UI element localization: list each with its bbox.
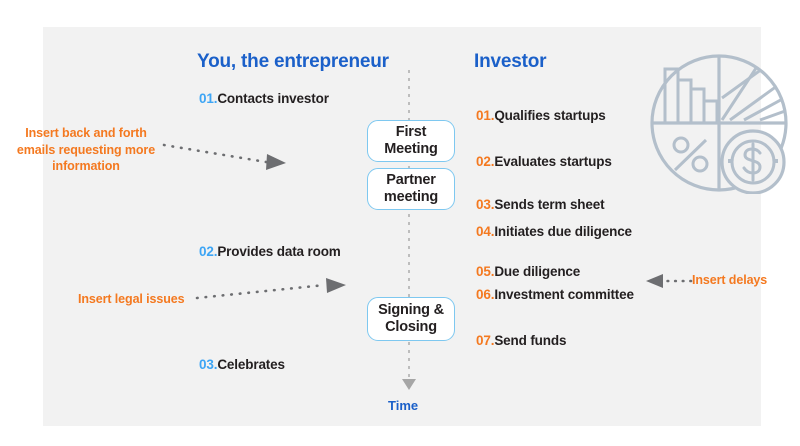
timeline-arrowhead-icon bbox=[402, 379, 416, 390]
step-number: 04. bbox=[476, 224, 494, 239]
column-heading-investor: Investor bbox=[474, 51, 546, 73]
diagram-canvas: You, the entrepreneur Investor 01.Contac… bbox=[0, 0, 800, 446]
step-number: 05. bbox=[476, 264, 494, 279]
step-label: Contacts investor bbox=[217, 91, 328, 106]
milestone-label: Partner meeting bbox=[384, 172, 438, 205]
step-investor-1: 01.Qualifies startups bbox=[476, 108, 606, 123]
step-entrepreneur-1: 01.Contacts investor bbox=[199, 91, 329, 106]
step-entrepreneur-3: 03.Celebrates bbox=[199, 357, 285, 372]
step-label: Initiates due diligence bbox=[494, 224, 632, 239]
step-investor-7: 07.Send funds bbox=[476, 333, 566, 348]
annotation-legal-text: Insert legal issues bbox=[78, 291, 188, 308]
step-label: Send funds bbox=[494, 333, 566, 348]
column-heading-entrepreneur: You, the entrepreneur bbox=[197, 51, 389, 73]
step-number: 06. bbox=[476, 287, 494, 302]
step-number: 01. bbox=[476, 108, 494, 123]
milestone-label: First Meeting bbox=[384, 124, 437, 157]
step-investor-2: 02.Evaluates startups bbox=[476, 154, 612, 169]
step-number: 02. bbox=[199, 244, 217, 259]
step-label: Sends term sheet bbox=[494, 197, 604, 212]
milestone-signing-closing[interactable]: Signing & Closing bbox=[367, 297, 455, 341]
step-label: Celebrates bbox=[217, 357, 285, 372]
annotation-delays-text: Insert delays bbox=[692, 272, 767, 289]
step-investor-4: 04.Initiates due diligence bbox=[476, 224, 632, 239]
step-number: 01. bbox=[199, 91, 217, 106]
milestone-first-meeting[interactable]: First Meeting bbox=[367, 120, 455, 162]
step-number: 03. bbox=[476, 197, 494, 212]
step-entrepreneur-2: 02.Provides data room bbox=[199, 244, 341, 259]
step-label: Qualifies startups bbox=[494, 108, 605, 123]
step-investor-5: 05.Due diligence bbox=[476, 264, 580, 279]
step-number: 03. bbox=[199, 357, 217, 372]
step-number: 02. bbox=[476, 154, 494, 169]
timeline-axis-label: Time bbox=[388, 398, 418, 413]
milestone-partner-meeting[interactable]: Partner meeting bbox=[367, 168, 455, 210]
step-investor-6: 06.Investment committee bbox=[476, 287, 634, 302]
step-label: Evaluates startups bbox=[494, 154, 611, 169]
milestone-label: Signing & Closing bbox=[378, 302, 444, 335]
step-label: Investment committee bbox=[494, 287, 634, 302]
step-number: 07. bbox=[476, 333, 494, 348]
step-investor-3: 03.Sends term sheet bbox=[476, 197, 604, 212]
step-label: Due diligence bbox=[494, 264, 580, 279]
annotation-emails-text: Insert back and forth emails requesting … bbox=[14, 125, 158, 175]
background-panel bbox=[43, 27, 761, 426]
step-label: Provides data room bbox=[217, 244, 340, 259]
